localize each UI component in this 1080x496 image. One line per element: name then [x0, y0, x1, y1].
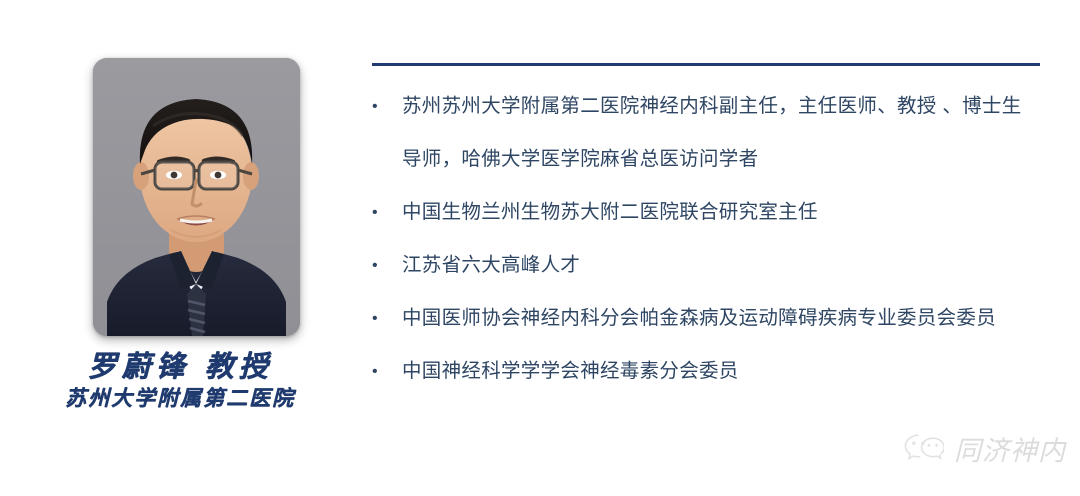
watermark: 同济神内 [902, 429, 1066, 468]
credential-item: • 中国生物兰州生物苏大附二医院联合研究室主任 [372, 186, 1042, 239]
credential-item: • 江苏省六大高峰人才 [372, 239, 1042, 292]
bullet-icon: • [372, 186, 402, 239]
divider-rule [372, 63, 1040, 66]
portrait-frame [93, 58, 300, 336]
credential-item: • 中国医师协会神经内科分会帕金森病及运动障碍疾病专业委员会委员 [372, 292, 1042, 345]
credential-text: 中国神经科学学学会神经毒素分会委员 [402, 345, 1042, 398]
portrait-photo [93, 58, 300, 336]
credential-text: 江苏省六大高峰人才 [402, 239, 1042, 292]
credential-text: 中国生物兰州生物苏大附二医院联合研究室主任 [402, 186, 1042, 239]
bullet-icon: • [372, 80, 402, 133]
bullet-icon: • [372, 345, 402, 398]
speaker-name: 罗蔚锋 教授 [0, 352, 360, 381]
credential-item: • 苏州苏州大学附属第二医院神经内科副主任，主任医师、教授 、博士生导师，哈佛大… [372, 80, 1042, 186]
watermark-label: 同济神内 [954, 429, 1066, 468]
profile-panel: 罗蔚锋 教授 苏州大学附属第二医院 [0, 0, 360, 496]
credentials-panel: • 苏州苏州大学附属第二医院神经内科副主任，主任医师、教授 、博士生导师，哈佛大… [372, 0, 1042, 496]
wechat-icon [902, 432, 944, 466]
credential-item: • 中国神经科学学学会神经毒素分会委员 [372, 345, 1042, 398]
credential-text: 苏州苏州大学附属第二医院神经内科副主任，主任医师、教授 、博士生导师，哈佛大学医… [402, 80, 1042, 186]
speaker-name-block: 罗蔚锋 教授 苏州大学附属第二医院 [0, 352, 360, 408]
bullet-icon: • [372, 292, 402, 345]
bullet-icon: • [372, 239, 402, 292]
credentials-list: • 苏州苏州大学附属第二医院神经内科副主任，主任医师、教授 、博士生导师，哈佛大… [372, 80, 1042, 398]
speaker-affiliation: 苏州大学附属第二医院 [0, 387, 360, 408]
slide-canvas: 罗蔚锋 教授 苏州大学附属第二医院 • 苏州苏州大学附属第二医院神经内科副主任，… [0, 0, 1080, 496]
credential-text: 中国医师协会神经内科分会帕金森病及运动障碍疾病专业委员会委员 [402, 292, 1042, 345]
